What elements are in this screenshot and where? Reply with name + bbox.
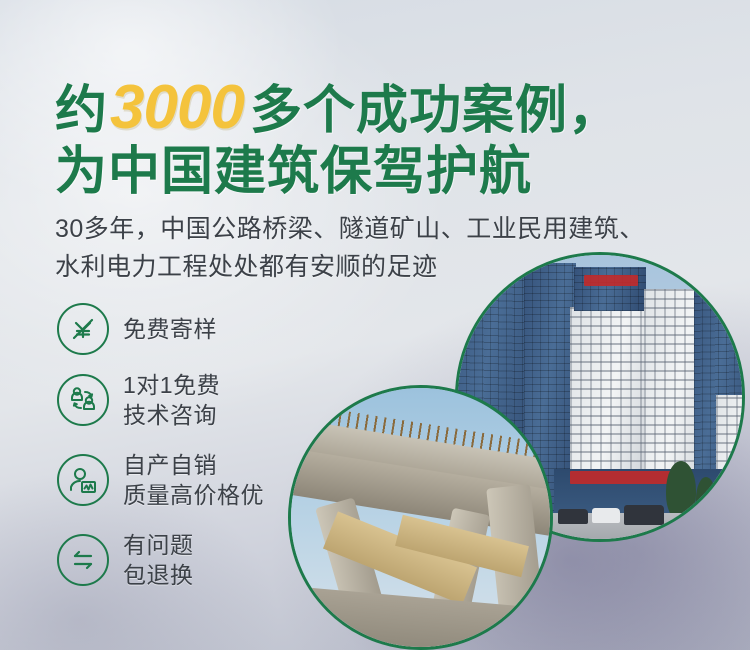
headline-prefix: 约 bbox=[55, 82, 108, 140]
subtitle-line-1: 30多年，中国公路桥梁、隧道矿山、工业民用建筑、 bbox=[55, 210, 735, 248]
feature-text: 免费寄样 bbox=[123, 314, 217, 344]
car-van bbox=[624, 505, 664, 525]
feature-item-free-sample: 免费寄样 bbox=[57, 298, 357, 360]
free-sample-icon bbox=[57, 303, 109, 355]
feature-line-2: 质量高价格优 bbox=[123, 480, 264, 510]
car-white-2 bbox=[592, 508, 620, 523]
headline-number: 3000 bbox=[108, 73, 250, 142]
feature-line-2: 包退换 bbox=[123, 560, 194, 590]
feature-text: 有问题 包退换 bbox=[123, 530, 194, 590]
feature-item-return-exchange: 有问题 包退换 bbox=[57, 520, 357, 600]
feature-item-consult: 1对1免费 技术咨询 bbox=[57, 360, 357, 440]
feature-text: 1对1免费 技术咨询 bbox=[123, 370, 220, 430]
feature-line-1: 1对1免费 bbox=[123, 370, 220, 400]
feature-line-1: 有问题 bbox=[123, 530, 194, 560]
tower-center-cap bbox=[574, 267, 646, 311]
car-dark-1 bbox=[558, 509, 588, 524]
headline-suffix: 多个成功案例， bbox=[250, 82, 621, 140]
self-produce-quality-icon bbox=[57, 454, 109, 506]
return-exchange-icon bbox=[57, 534, 109, 586]
sign-red-top bbox=[584, 275, 638, 286]
headline-line-2: 为中国建筑保驾护航 bbox=[55, 141, 715, 203]
feature-line-1: 免费寄样 bbox=[123, 314, 217, 344]
promo-banner: 约3000多个成功案例， 为中国建筑保驾护航 30多年，中国公路桥梁、隧道矿山、… bbox=[0, 0, 750, 650]
feature-line-1: 自产自销 bbox=[123, 450, 264, 480]
feature-list: 免费寄样 1对1免费 技术咨询 bbox=[57, 298, 357, 600]
headline-line-1: 约3000多个成功案例， bbox=[55, 78, 715, 141]
headline: 约3000多个成功案例， 为中国建筑保驾护航 bbox=[55, 78, 715, 203]
tree bbox=[666, 461, 696, 521]
feature-line-2: 技术咨询 bbox=[123, 400, 220, 430]
one-on-one-consult-icon bbox=[57, 374, 109, 426]
feature-text: 自产自销 质量高价格优 bbox=[123, 450, 264, 510]
feature-item-self-produce: 自产自销 质量高价格优 bbox=[57, 440, 357, 520]
